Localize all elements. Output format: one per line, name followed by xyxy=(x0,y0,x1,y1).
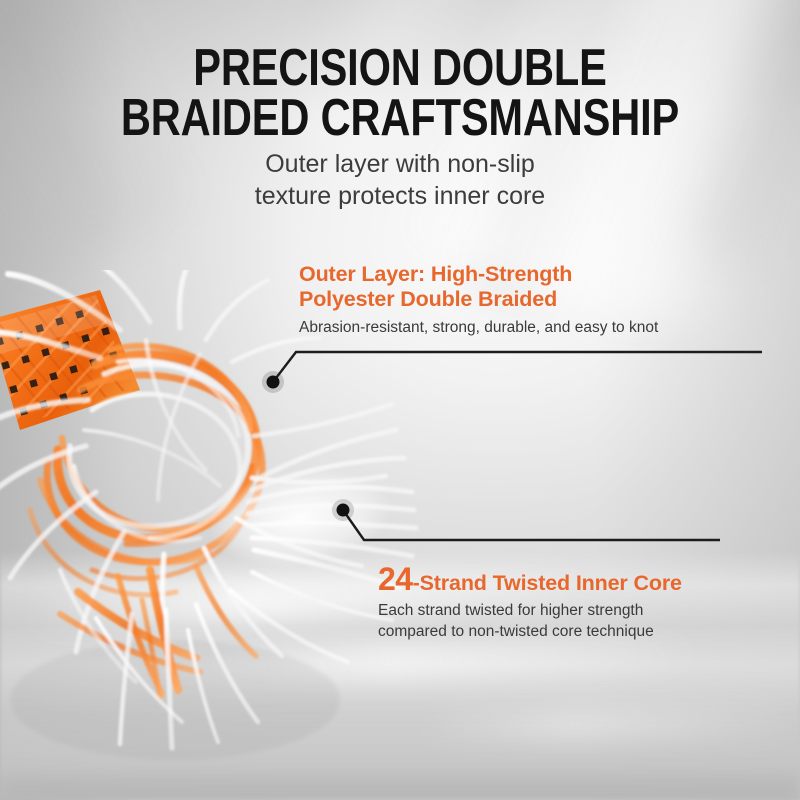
headline-text-2: BRAIDED CRAFTSMANSHIP xyxy=(80,94,720,144)
headline-line-1: PRECISION DOUBLE xyxy=(0,44,800,94)
product-image-rope xyxy=(0,270,420,800)
headline-text-1: PRECISION DOUBLE xyxy=(80,44,720,94)
headline-line-2: BRAIDED CRAFTSMANSHIP xyxy=(0,94,800,144)
callout-outer-layer-heading-line-1: Outer Layer: High-Strength xyxy=(299,262,769,287)
subtitle-line-1: Outer layer with non-slip xyxy=(0,148,800,180)
callout-inner-core-heading-rest: -Strand Twisted Inner Core xyxy=(413,571,682,595)
callout-inner-core-body-line-1: Each strand twisted for higher strength xyxy=(378,601,778,621)
subtitle-line-2: texture protects inner core xyxy=(0,180,800,212)
callout-outer-layer-heading-line-2: Polyester Double Braided xyxy=(299,287,769,312)
callout-inner-core-body-line-2: compared to non-twisted core technique xyxy=(378,622,778,642)
callout-inner-core-heading: 24-Strand Twisted Inner Core xyxy=(378,563,778,596)
callout-inner-core-strand-count: 24 xyxy=(378,561,413,597)
product-infographic: PRECISION DOUBLE BRAIDED CRAFTSMANSHIP O… xyxy=(0,0,800,800)
callout-inner-core: 24-Strand Twisted Inner Core Each strand… xyxy=(378,563,778,642)
callout-inner-core-body: Each strand twisted for higher strength … xyxy=(378,601,778,641)
subtitle: Outer layer with non-slip texture protec… xyxy=(0,148,800,212)
callout-outer-layer: Outer Layer: High-Strength Polyester Dou… xyxy=(299,262,769,338)
callout-outer-layer-body: Abrasion-resistant, strong, durable, and… xyxy=(299,318,769,338)
callout-outer-layer-heading: Outer Layer: High-Strength Polyester Dou… xyxy=(299,262,769,313)
callout-outer-layer-body-line-1: Abrasion-resistant, strong, durable, and… xyxy=(299,318,769,338)
